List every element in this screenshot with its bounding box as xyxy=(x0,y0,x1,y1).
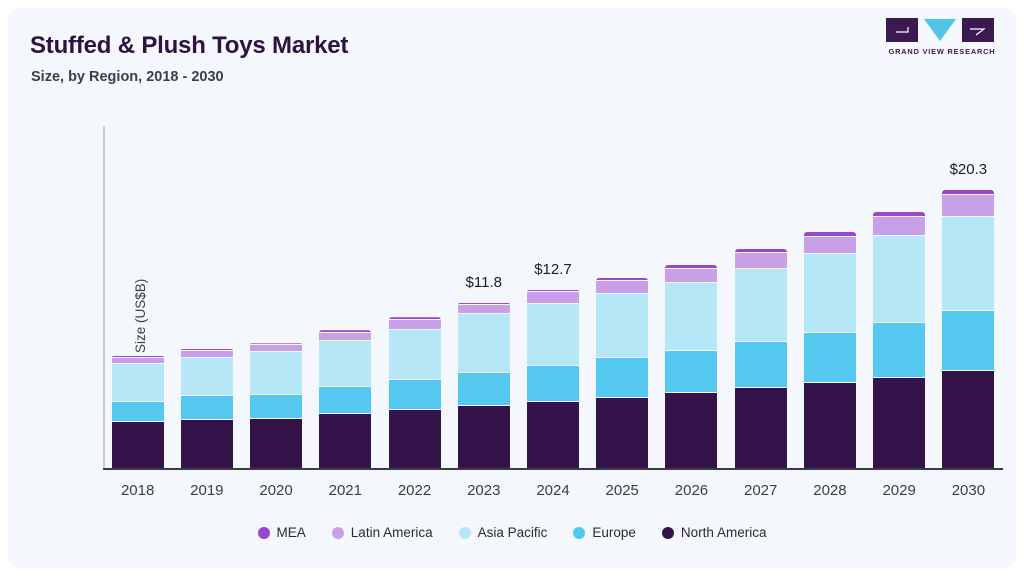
bar-group-2022[interactable] xyxy=(389,317,441,468)
bar-segment-latin-america[interactable] xyxy=(596,281,648,294)
bar-segment-latin-america[interactable] xyxy=(942,195,994,217)
legend-swatch-icon xyxy=(573,527,585,539)
bar-segment-latin-america[interactable] xyxy=(458,305,510,313)
bar-segment-north-america[interactable] xyxy=(735,388,787,468)
bar-segment-latin-america[interactable] xyxy=(319,333,371,341)
bar-segment-north-america[interactable] xyxy=(942,371,994,469)
bar-segment-north-america[interactable] xyxy=(873,378,925,469)
bar-segment-mea[interactable] xyxy=(250,343,302,345)
legend-item-asia-pacific[interactable]: Asia Pacific xyxy=(459,525,548,540)
bar-segment-mea[interactable] xyxy=(389,317,441,320)
bar-segment-europe[interactable] xyxy=(181,396,233,420)
legend-item-europe[interactable]: Europe xyxy=(573,525,636,540)
legend-label: Latin America xyxy=(351,525,433,540)
bar-group-2023[interactable]: $11.8 xyxy=(458,303,510,469)
bar-segment-north-america[interactable] xyxy=(596,398,648,469)
bar-segment-latin-america[interactable] xyxy=(665,269,717,283)
bar-group-2021[interactable] xyxy=(319,330,371,468)
bar-segment-mea[interactable] xyxy=(596,278,648,281)
bar-segment-europe[interactable] xyxy=(942,311,994,371)
bar-segment-europe[interactable] xyxy=(458,373,510,406)
bar-segment-asia-pacific[interactable] xyxy=(389,330,441,380)
bar-segment-latin-america[interactable] xyxy=(181,351,233,358)
legend-label: MEA xyxy=(277,525,306,540)
legend-item-mea[interactable]: MEA xyxy=(258,525,306,540)
bar-group-2024[interactable]: $12.7 xyxy=(527,290,579,469)
bar-segment-north-america[interactable] xyxy=(389,410,441,468)
bar-segment-asia-pacific[interactable] xyxy=(873,236,925,323)
bar-segment-north-america[interactable] xyxy=(665,393,717,469)
chart-header: Stuffed & Plush Toys Market Size, by Reg… xyxy=(30,24,994,94)
bar-segment-north-america[interactable] xyxy=(319,414,371,468)
bar-segment-europe[interactable] xyxy=(319,387,371,414)
bar-segment-mea[interactable] xyxy=(804,232,856,236)
chart-legend: MEALatin AmericaAsia PacificEuropeNorth … xyxy=(8,525,1016,540)
bar-segment-north-america[interactable] xyxy=(804,383,856,468)
bar-segment-north-america[interactable] xyxy=(527,402,579,469)
bar-segment-asia-pacific[interactable] xyxy=(319,341,371,387)
bar-segment-asia-pacific[interactable] xyxy=(112,364,164,402)
legend-item-north-america[interactable]: North America xyxy=(662,525,767,540)
bar-segment-asia-pacific[interactable] xyxy=(250,352,302,395)
bar-value-label: $12.7 xyxy=(511,261,595,278)
bar-segment-europe[interactable] xyxy=(527,366,579,402)
bar-segment-mea[interactable] xyxy=(665,265,717,268)
bar-segment-latin-america[interactable] xyxy=(250,345,302,352)
bar-segment-north-america[interactable] xyxy=(181,420,233,468)
bar-segment-latin-america[interactable] xyxy=(873,217,925,236)
x-axis-tick-label: 2030 xyxy=(926,482,1010,499)
bar-segment-asia-pacific[interactable] xyxy=(458,314,510,373)
bar-segment-europe[interactable] xyxy=(735,342,787,388)
bar-segment-north-america[interactable] xyxy=(112,422,164,468)
bar-segment-latin-america[interactable] xyxy=(804,237,856,254)
bar-segment-asia-pacific[interactable] xyxy=(942,217,994,311)
grand-view-research-logo: GRAND VIEW RESEARCH xyxy=(886,16,998,64)
bar-segment-asia-pacific[interactable] xyxy=(804,254,856,333)
bar-segment-mea[interactable] xyxy=(458,303,510,306)
bar-group-2020[interactable] xyxy=(250,343,302,468)
bar-group-2029[interactable] xyxy=(873,212,925,468)
legend-label: Europe xyxy=(592,525,636,540)
bar-group-2025[interactable] xyxy=(596,278,648,469)
bar-segment-asia-pacific[interactable] xyxy=(527,304,579,366)
bar-segment-europe[interactable] xyxy=(873,323,925,378)
bar-group-2030[interactable]: $20.3 xyxy=(942,190,994,468)
bar-segment-latin-america[interactable] xyxy=(112,358,164,364)
bar-group-2026[interactable] xyxy=(665,265,717,468)
bar-segment-europe[interactable] xyxy=(250,395,302,419)
legend-label: Asia Pacific xyxy=(478,525,548,540)
legend-swatch-icon xyxy=(662,527,674,539)
bar-group-2027[interactable] xyxy=(735,249,787,468)
legend-swatch-icon xyxy=(332,527,344,539)
legend-swatch-icon xyxy=(459,527,471,539)
bar-segment-europe[interactable] xyxy=(804,333,856,383)
bar-group-2018[interactable] xyxy=(112,356,164,469)
bar-segment-europe[interactable] xyxy=(665,351,717,392)
bar-segment-north-america[interactable] xyxy=(250,419,302,469)
bar-segment-mea[interactable] xyxy=(735,249,787,253)
logo-mark-icon xyxy=(886,16,998,46)
bar-segment-mea[interactable] xyxy=(942,190,994,195)
legend-swatch-icon xyxy=(258,527,270,539)
bar-segment-mea[interactable] xyxy=(319,330,371,333)
logo-text: GRAND VIEW RESEARCH xyxy=(886,47,998,56)
bar-segment-latin-america[interactable] xyxy=(389,320,441,330)
bar-segment-asia-pacific[interactable] xyxy=(735,269,787,342)
chart-subtitle: Size, by Region, 2018 - 2030 xyxy=(31,69,224,85)
legend-item-latin-america[interactable]: Latin America xyxy=(332,525,433,540)
bar-segment-asia-pacific[interactable] xyxy=(596,294,648,358)
bar-segment-mea[interactable] xyxy=(112,356,164,358)
bar-series-container: 201820192020202120222023$11.82024$12.720… xyxy=(103,118,1003,470)
bar-segment-mea[interactable] xyxy=(873,212,925,216)
bar-segment-europe[interactable] xyxy=(596,358,648,397)
plot-area: Market Size (US$B) 0510152025 2018201920… xyxy=(103,118,1003,470)
bar-segment-north-america[interactable] xyxy=(458,406,510,469)
bar-group-2019[interactable] xyxy=(181,349,233,469)
bar-segment-europe[interactable] xyxy=(112,402,164,423)
chart-card: Stuffed & Plush Toys Market Size, by Reg… xyxy=(8,8,1016,568)
bar-segment-mea[interactable] xyxy=(181,349,233,351)
bar-segment-asia-pacific[interactable] xyxy=(181,358,233,397)
bar-segment-latin-america[interactable] xyxy=(527,292,579,304)
page-title: Stuffed & Plush Toys Market xyxy=(30,32,348,60)
bar-segment-latin-america[interactable] xyxy=(735,253,787,269)
bar-segment-mea[interactable] xyxy=(527,290,579,293)
bar-group-2028[interactable] xyxy=(804,232,856,468)
bar-segment-europe[interactable] xyxy=(389,380,441,410)
legend-label: North America xyxy=(681,525,767,540)
bar-value-label: $20.3 xyxy=(926,161,1010,178)
bar-segment-asia-pacific[interactable] xyxy=(665,283,717,352)
